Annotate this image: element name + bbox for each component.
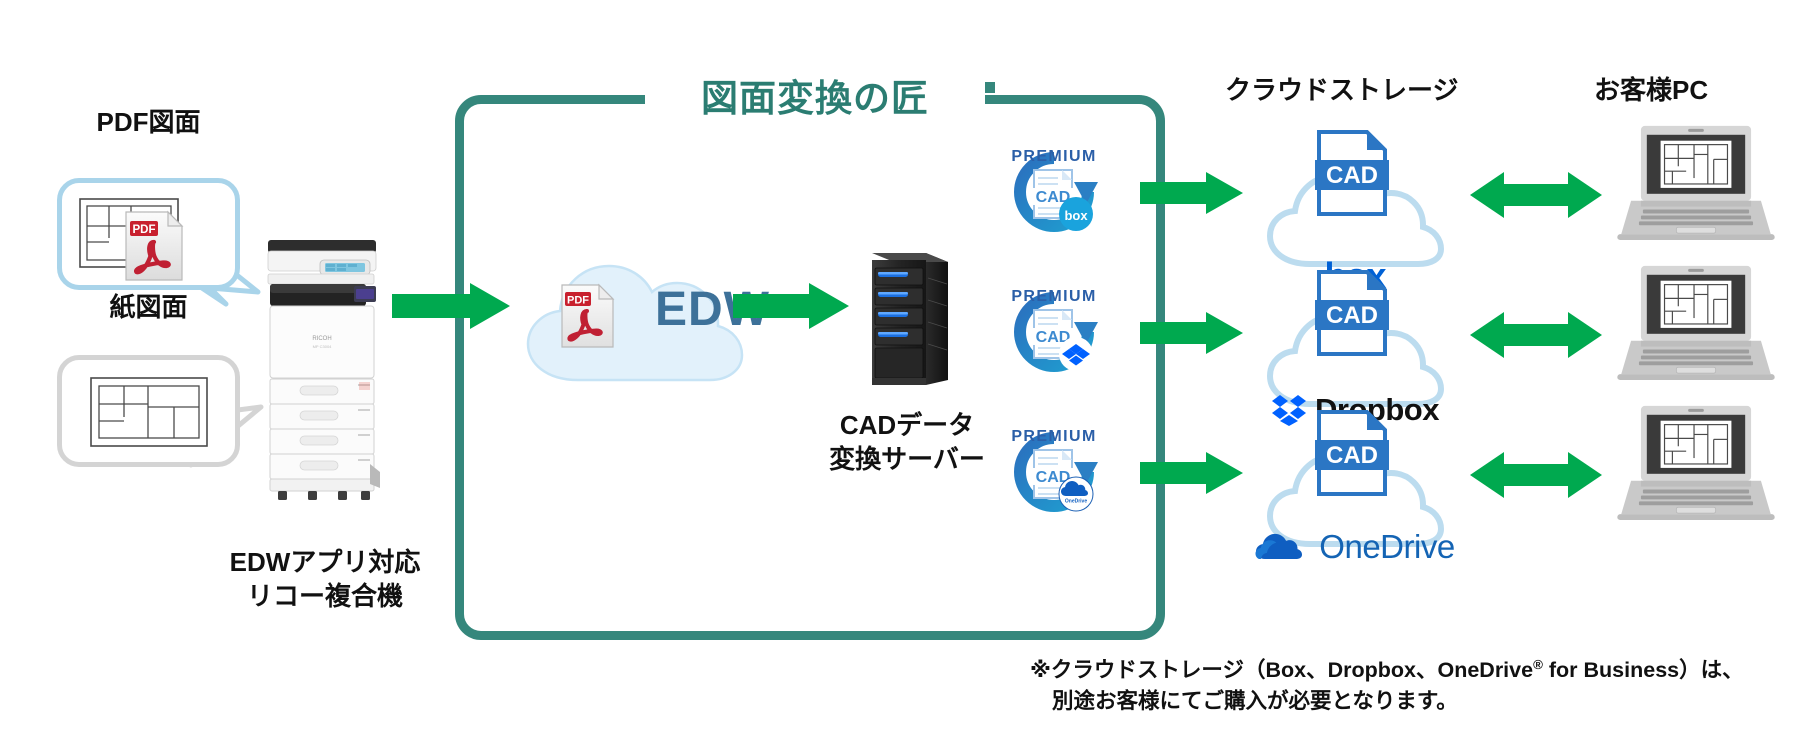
- footnote-registered-mark: ®: [1533, 657, 1543, 672]
- paper-drawing-label: 紙図面: [57, 290, 240, 324]
- pdf-badge-text: PDF: [133, 224, 156, 236]
- premium-badge-label-2: PREMIUM: [1000, 288, 1108, 306]
- arrow-cloud-pc-1: [1470, 166, 1602, 224]
- mfp-label: EDWアプリ対応 リコー複合機: [200, 545, 450, 614]
- mfp-label-line2: リコー複合機: [247, 581, 403, 611]
- cad-file-icon-1: CAD: [1315, 128, 1391, 218]
- footnote-line1-a: ※クラウドストレージ（Box、Dropbox、OneDrive: [1030, 658, 1533, 682]
- mfp-label-line1: EDWアプリ対応: [230, 547, 421, 577]
- premium-text-3: PREMIUM: [1011, 428, 1096, 445]
- server-label-line1: CADデータ: [840, 410, 974, 440]
- paper-drawing-icon: [90, 377, 208, 447]
- premium-badge-label-3: PREMIUM: [1000, 428, 1108, 446]
- cad-file-text-2: CAD: [1326, 302, 1378, 329]
- laptop-cad-icon-1: [1616, 122, 1776, 242]
- cad-file-text-3: CAD: [1326, 442, 1378, 469]
- onedrive-glyph: [1255, 529, 1311, 565]
- cloud-storage-heading: クラウドストレージ: [1225, 70, 1458, 107]
- customer-pc-heading: お客様PC: [1594, 70, 1708, 107]
- edw-pdf-file-icon: PDF: [560, 283, 616, 349]
- onedrive-logo: OneDrive: [1235, 528, 1475, 566]
- pdf-bubble-content: PDF: [57, 178, 240, 290]
- arrow-edw-to-server: [733, 283, 851, 333]
- frame-title: 図面変換の匠: [701, 68, 929, 122]
- server-rack-icon: [862, 248, 952, 388]
- server-label-line2: 変換サーバー: [829, 444, 985, 474]
- arrow-premium-to-cloud-3: [1140, 452, 1245, 498]
- footnote-line1-b: for Business）は、: [1543, 658, 1744, 682]
- paper-bubble-content: [57, 355, 240, 467]
- arrow-mfp-to-edw: [392, 283, 512, 333]
- premium-badge-label-1: PREMIUM: [1000, 148, 1108, 166]
- ricoh-mfp-icon: RICOH MP C3004: [262, 236, 382, 521]
- pdf-file-icon: PDF: [124, 210, 186, 282]
- arrow-premium-to-cloud-2: [1140, 312, 1245, 358]
- laptop-cad-icon-2: [1616, 262, 1776, 382]
- svg-text:MP C3004: MP C3004: [313, 344, 333, 349]
- svg-text:RICOH: RICOH: [312, 336, 331, 342]
- frame-title-container: 図面変換の匠: [645, 62, 985, 128]
- server-label: CADデータ 変換サーバー: [812, 408, 1002, 477]
- footnote-line2: 別途お客様にてご購入が必要となります。: [1030, 686, 1790, 717]
- edw-pdf-badge-text: PDF: [567, 295, 589, 307]
- arrow-cloud-pc-3: [1470, 446, 1602, 504]
- premium-text-1: PREMIUM: [1011, 148, 1096, 165]
- arrow-premium-to-cloud-1: [1140, 172, 1245, 218]
- cad-file-text-1: CAD: [1326, 162, 1378, 189]
- svg-text:OneDrive: OneDrive: [1065, 499, 1087, 505]
- onedrive-logo-text: OneDrive: [1319, 528, 1454, 566]
- cad-file-icon-2: CAD: [1315, 268, 1391, 358]
- box-glyph-1: box: [1064, 208, 1088, 223]
- cad-file-icon-3: CAD: [1315, 408, 1391, 498]
- pdf-drawing-label: PDF図面: [57, 105, 240, 139]
- laptop-cad-icon-3: [1616, 402, 1776, 522]
- arrow-cloud-pc-2: [1470, 306, 1602, 364]
- footnote: ※クラウドストレージ（Box、Dropbox、OneDrive® for Bus…: [1030, 655, 1790, 718]
- premium-text-2: PREMIUM: [1011, 288, 1096, 305]
